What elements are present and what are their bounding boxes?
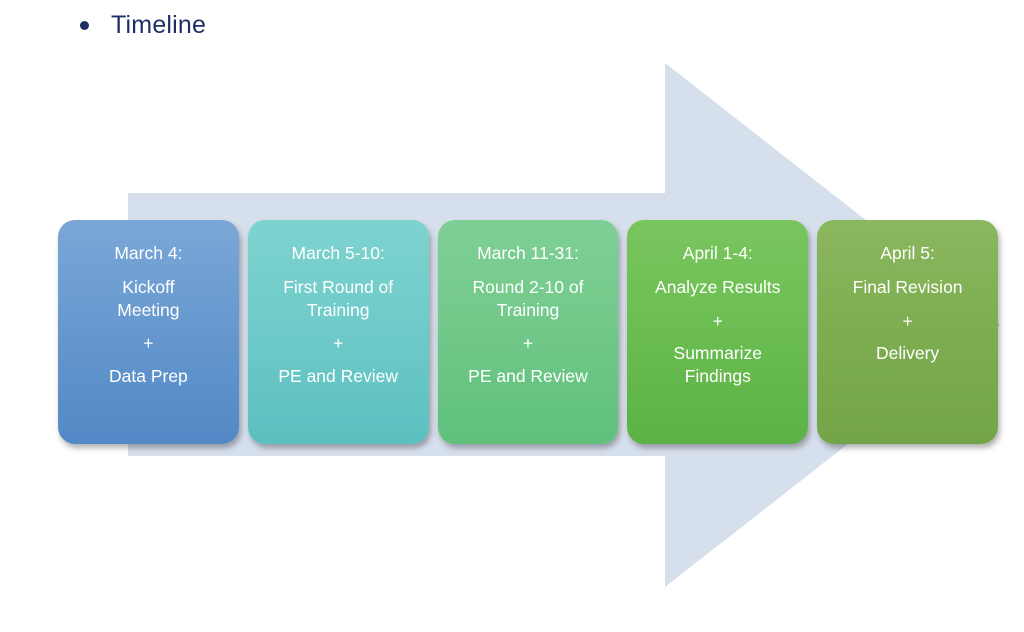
- stage-secondary-label: Summarize Findings: [637, 342, 798, 387]
- stage-date-label: March 11-31:: [448, 242, 609, 264]
- stage-primary-label: Final Revision: [827, 276, 988, 298]
- stage-secondary-label: PE and Review: [258, 365, 419, 387]
- timeline-stage-list: March 4: Kickoff Meeting + Data Prep Mar…: [58, 220, 998, 444]
- bullet-icon: [80, 21, 89, 30]
- timeline-stage-april-1-4[interactable]: April 1-4: Analyze Results + Summarize F…: [627, 220, 808, 444]
- stage-primary-label: Kickoff Meeting: [68, 276, 229, 321]
- stage-plus-separator: +: [68, 332, 229, 354]
- stage-secondary-label: PE and Review: [448, 365, 609, 387]
- stage-primary-label: First Round of Training: [258, 276, 419, 321]
- timeline-stage-march-11-31[interactable]: March 11-31: Round 2-10 of Training + PE…: [438, 220, 619, 444]
- page-title: Timeline: [80, 13, 206, 38]
- stage-primary-label: Analyze Results: [637, 276, 798, 298]
- stage-plus-separator: +: [258, 332, 419, 354]
- timeline-stage-march-4[interactable]: March 4: Kickoff Meeting + Data Prep: [58, 220, 239, 444]
- timeline-stage-march-5-10[interactable]: March 5-10: First Round of Training + PE…: [248, 220, 429, 444]
- stage-secondary-label: Data Prep: [68, 365, 229, 387]
- stage-secondary-label: Delivery: [827, 342, 988, 364]
- stage-primary-label: Round 2-10 of Training: [448, 276, 609, 321]
- stage-date-label: March 5-10:: [258, 242, 419, 264]
- stage-plus-separator: +: [448, 332, 609, 354]
- stage-plus-separator: +: [827, 310, 988, 332]
- page-title-label: Timeline: [111, 13, 206, 38]
- timeline-stage-april-5[interactable]: April 5: Final Revision + Delivery: [817, 220, 998, 444]
- stage-plus-separator: +: [637, 310, 798, 332]
- stage-date-label: April 1-4:: [637, 242, 798, 264]
- stage-date-label: March 4:: [68, 242, 229, 264]
- slide-canvas: Timeline March 4: Kickoff Meeting + Data…: [0, 0, 1024, 632]
- stage-date-label: April 5:: [827, 242, 988, 264]
